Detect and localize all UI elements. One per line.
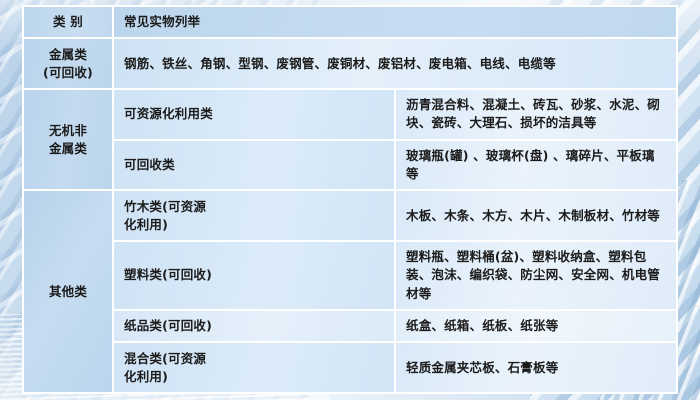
subcategory-cell-plastic: 塑料类(可回收) (113, 241, 395, 310)
items-cell-bamboo-wood: 木板、木条、木方、木片、木制板材、竹材等 (395, 190, 677, 241)
items-cell-mixed: 轻质金属夹芯板、石膏板等 (395, 342, 677, 393)
table-row: 塑料类(可回收) 塑料瓶、塑料桶(盆)、塑料收纳盒、塑料包装、泡沫、编织袋、防尘… (23, 241, 677, 310)
category-cell-metal: 金属类 (可回收) (23, 38, 113, 89)
classification-table: 类 别 常见实物列举 金属类 (可回收) 钢筋、铁丝、角钢、型钢、废钢管、废铜材… (22, 5, 678, 394)
header-cell-category: 类 别 (23, 6, 113, 38)
subcategory-cell-bamboo-wood: 竹木类(可资源 化利用) (113, 190, 395, 241)
subcategory-label-line1: 竹木类(可资源 (124, 199, 206, 214)
classification-table-container: 类 别 常见实物列举 金属类 (可回收) 钢筋、铁丝、角钢、型钢、废钢管、废铜材… (22, 5, 678, 394)
table-row: 纸品类(可回收) 纸盒、纸箱、纸板、纸张等 (23, 310, 677, 342)
table-row: 可回收类 玻璃瓶(罐) 、玻璃杯(盘) 、璃碎片、平板璃等 (23, 140, 677, 191)
subcategory-cell-resource-recyclable: 可资源化利用类 (113, 89, 395, 140)
items-cell-metal: 钢筋、铁丝、角钢、型钢、废钢管、废铜材、废铝材、废电箱、电线、电缆等 (113, 38, 677, 89)
subcategory-label-line2: 化利用) (124, 369, 168, 384)
category-label-line2: 金属类 (49, 141, 87, 156)
category-label-line1: 无机非 (49, 123, 87, 138)
items-cell-plastic: 塑料瓶、塑料桶(盆)、塑料收纳盒、塑料包装、泡沫、编织袋、防尘网、安全网、机电管… (395, 241, 677, 310)
table-row: 无机非 金属类 可资源化利用类 沥青混合料、混凝土、砖瓦、砂浆、水泥、砌块、瓷砖… (23, 89, 677, 140)
table-row: 金属类 (可回收) 钢筋、铁丝、角钢、型钢、废钢管、废铜材、废铝材、废电箱、电线… (23, 38, 677, 89)
category-label-line1: 金属类 (49, 47, 87, 62)
category-label-line2: (可回收) (43, 65, 93, 80)
table-row: 其他类 竹木类(可资源 化利用) 木板、木条、木方、木片、木制板材、竹材等 (23, 190, 677, 241)
subcategory-cell-recyclable-glass: 可回收类 (113, 140, 395, 191)
category-cell-inorganic-nonmetal: 无机非 金属类 (23, 89, 113, 190)
category-cell-other: 其他类 (23, 190, 113, 393)
items-cell-recyclable-glass: 玻璃瓶(罐) 、玻璃杯(盘) 、璃碎片、平板璃等 (395, 140, 677, 191)
items-cell-resource-recyclable: 沥青混合料、混凝土、砖瓦、砂浆、水泥、砌块、瓷砖、大理石、损坏的洁具等 (395, 89, 677, 140)
header-cell-items: 常见实物列举 (113, 6, 677, 38)
subcategory-cell-paper: 纸品类(可回收) (113, 310, 395, 342)
items-cell-paper: 纸盒、纸箱、纸板、纸张等 (395, 310, 677, 342)
page-root: 类 别 常见实物列举 金属类 (可回收) 钢筋、铁丝、角钢、型钢、废钢管、废铜材… (0, 0, 700, 400)
table-row: 混合类(可资源 化利用) 轻质金属夹芯板、石膏板等 (23, 342, 677, 393)
table-header-row: 类 别 常见实物列举 (23, 6, 677, 38)
subcategory-cell-mixed: 混合类(可资源 化利用) (113, 342, 395, 393)
subcategory-label-line2: 化利用) (124, 217, 168, 232)
subcategory-label-line1: 混合类(可资源 (124, 351, 206, 366)
